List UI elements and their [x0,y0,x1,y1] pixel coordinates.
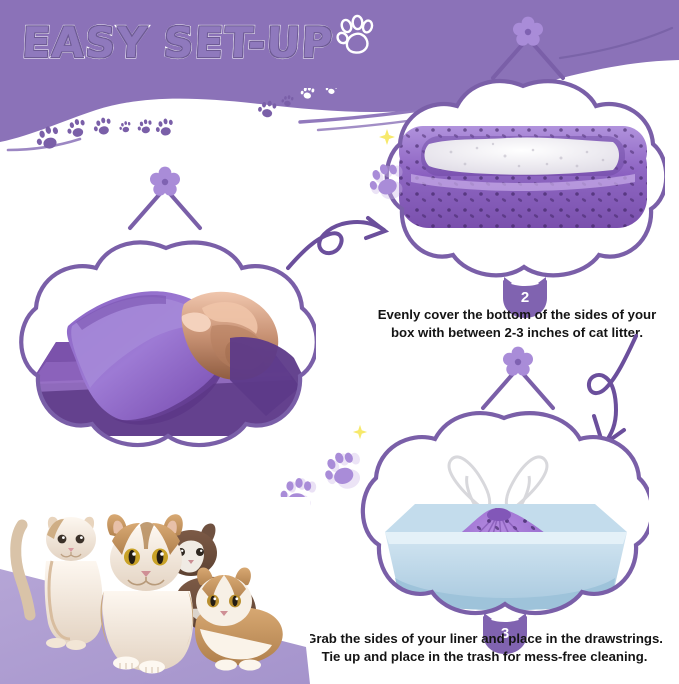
step-caption-3: Grab the sides of your liner and place i… [290,630,679,666]
step-3-photo [359,402,649,628]
infographic-page: EASY SET-UP [0,0,679,684]
step-number-2: 2 [497,289,553,306]
step-2-photo [381,70,665,290]
step-card-1: 1 Open the liner and fold over the sides… [0,160,330,500]
step-card-2: 2 Evenly cover the bottom of the sides o… [355,8,679,348]
page-title: EASY SET-UP [21,18,335,67]
step-caption-2: Evenly cover the bottom of the sides of … [355,306,679,342]
step-1-photo [16,230,316,460]
cats-photo [0,497,310,684]
flower-hanger-icon [110,162,220,232]
